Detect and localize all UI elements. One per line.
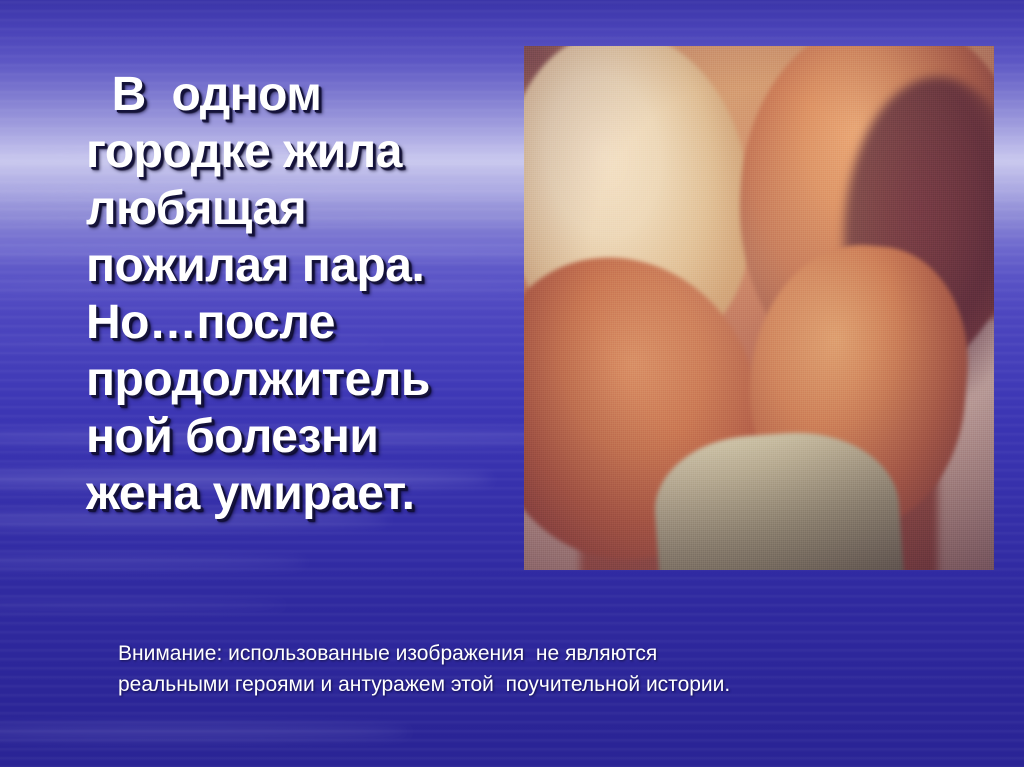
caption-line-2: реальными героями и антуражем этой поучи… (118, 669, 918, 700)
presentation-slide: В одном городке жила любящая пожилая пар… (0, 0, 1024, 767)
photo-film-grain (524, 46, 994, 570)
caption-line-1: Внимание: использованные изображения не … (118, 638, 918, 669)
slide-body-text: В одном городке жила любящая пожилая пар… (86, 66, 506, 522)
elderly-couple-photo (524, 46, 994, 570)
disclaimer-caption: Внимание: использованные изображения не … (118, 638, 918, 700)
